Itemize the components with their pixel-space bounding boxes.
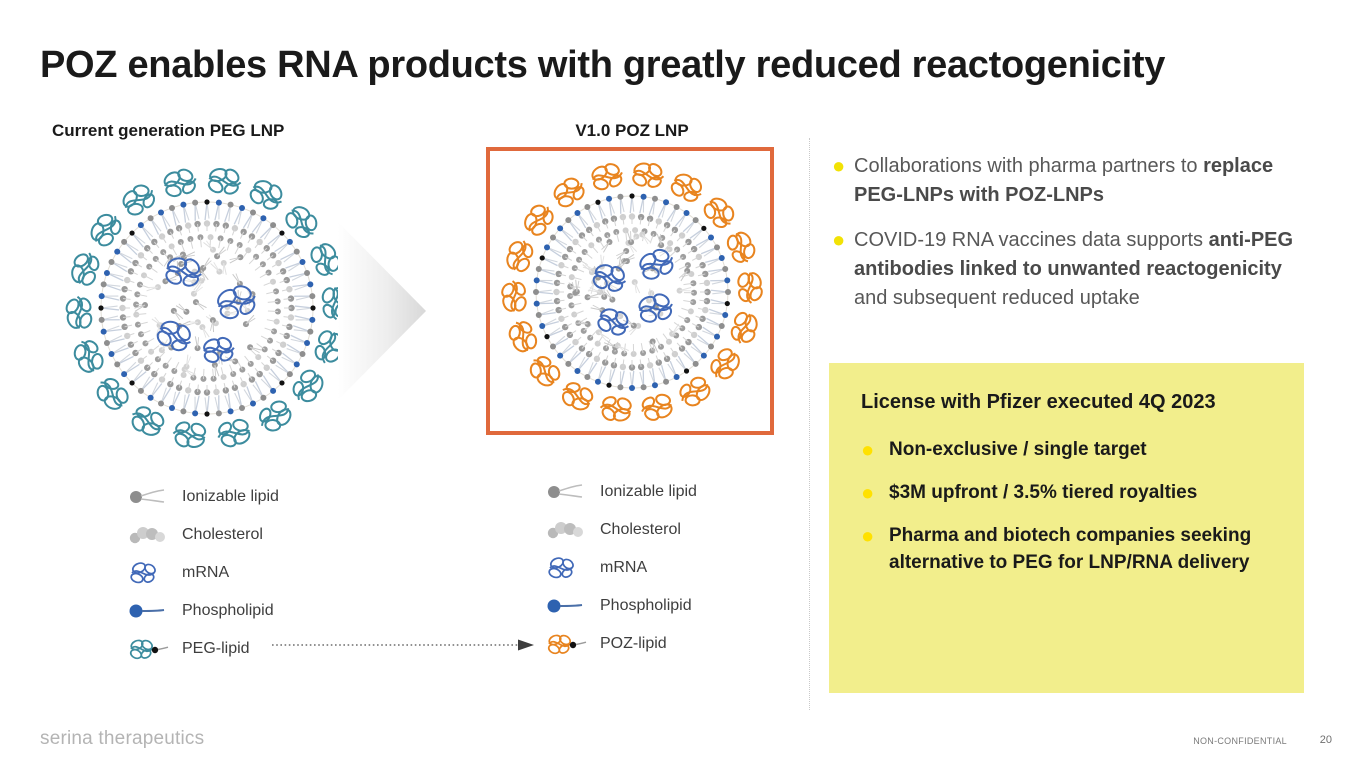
legend-label: mRNA — [600, 559, 647, 577]
ionizable-lipid-icon — [128, 484, 172, 510]
legend-row: PEG-lipid — [128, 630, 279, 668]
license-bullet-text: Non-exclusive / single target — [889, 436, 1147, 463]
legend-row: Ionizable lipid — [546, 473, 697, 511]
legend-row: Cholesterol — [546, 511, 697, 549]
poz-lipid-icon — [546, 631, 590, 657]
bullet-text: COVID-19 RNA vaccines data supports — [854, 229, 1209, 251]
license-bullet-item: ●$3M upfront / 3.5% tiered royalties — [861, 479, 1278, 506]
peg-lnp-diagram — [42, 160, 372, 460]
ionizable-lipid-icon — [546, 479, 590, 505]
legend-label: Phospholipid — [182, 602, 274, 620]
legend-row: mRNA — [128, 554, 279, 592]
legend-row: Ionizable lipid — [128, 478, 279, 516]
cholesterol-icon — [128, 522, 172, 548]
bullet-item: ●COVID-19 RNA vaccines data supports ant… — [832, 226, 1302, 313]
left-diagram-heading: Current generation PEG LNP — [52, 121, 284, 141]
right-diagram-heading: V1.0 POZ LNP — [486, 121, 778, 141]
license-bullet-text: $3M upfront / 3.5% tiered royalties — [889, 479, 1197, 506]
bullet-dot-icon: ● — [861, 436, 889, 463]
legend-label: Cholesterol — [182, 526, 263, 544]
phospholipid-icon — [128, 598, 172, 624]
peg-to-poz-arrow — [272, 638, 534, 652]
legend-row: POZ-lipid — [546, 625, 697, 663]
legend-row: Phospholipid — [128, 592, 279, 630]
mrna-icon — [128, 560, 172, 586]
phospholipid-icon — [546, 593, 590, 619]
legend-label: Phospholipid — [600, 597, 692, 615]
license-callout-box: License with Pfizer executed 4Q 2023 ●No… — [829, 363, 1304, 693]
bullet-dot-icon: ● — [861, 479, 889, 506]
peg-lipid-icon — [128, 636, 172, 662]
legend-label: PEG-lipid — [182, 640, 250, 658]
bullet-text: Collaborations with pharma partners to — [854, 155, 1203, 177]
bullet-text: and subsequent reduced uptake — [854, 287, 1140, 309]
legend-label: POZ-lipid — [600, 635, 667, 653]
poz-lnp-diagram — [498, 158, 766, 428]
legend-label: mRNA — [182, 564, 229, 582]
bullet-dot-icon: ● — [832, 152, 854, 210]
confidentiality-note: NON-CONFIDENTIAL — [1193, 736, 1287, 746]
legend-row: mRNA — [546, 549, 697, 587]
bullet-dot-icon: ● — [861, 522, 889, 576]
license-bullet-text: Pharma and biotech companies seeking alt… — [889, 522, 1278, 576]
legend-label: Cholesterol — [600, 521, 681, 539]
legend-label: Ionizable lipid — [182, 488, 279, 506]
license-bullet-item: ●Non-exclusive / single target — [861, 436, 1278, 463]
license-bullet-item: ●Pharma and biotech companies seeking al… — [861, 522, 1278, 576]
right-column-bullets: ●Collaborations with pharma partners to … — [832, 152, 1302, 329]
page-number: 20 — [1320, 734, 1332, 746]
bullet-item: ●Collaborations with pharma partners to … — [832, 152, 1302, 210]
page-title: POZ enables RNA products with greatly re… — [40, 42, 1330, 88]
bullet-dot-icon: ● — [832, 226, 854, 313]
legend-poz-lnp: Ionizable lipid Cholesterol mRNA Phospho… — [546, 473, 697, 663]
cholesterol-icon — [546, 517, 590, 543]
transition-chevron-arrow — [338, 222, 488, 400]
legend-label: Ionizable lipid — [600, 483, 697, 501]
legend-row: Cholesterol — [128, 516, 279, 554]
license-bullet-list: ●Non-exclusive / single target●$3M upfro… — [861, 436, 1278, 576]
legend-row: Phospholipid — [546, 587, 697, 625]
company-logo: serina therapeutics — [40, 728, 204, 750]
license-box-title: License with Pfizer executed 4Q 2023 — [861, 389, 1278, 416]
column-divider — [809, 138, 810, 710]
mrna-icon — [546, 555, 590, 581]
legend-peg-lnp: Ionizable lipid Cholesterol mRNA Phospho… — [128, 478, 279, 668]
slide-root: POZ enables RNA products with greatly re… — [0, 0, 1365, 768]
